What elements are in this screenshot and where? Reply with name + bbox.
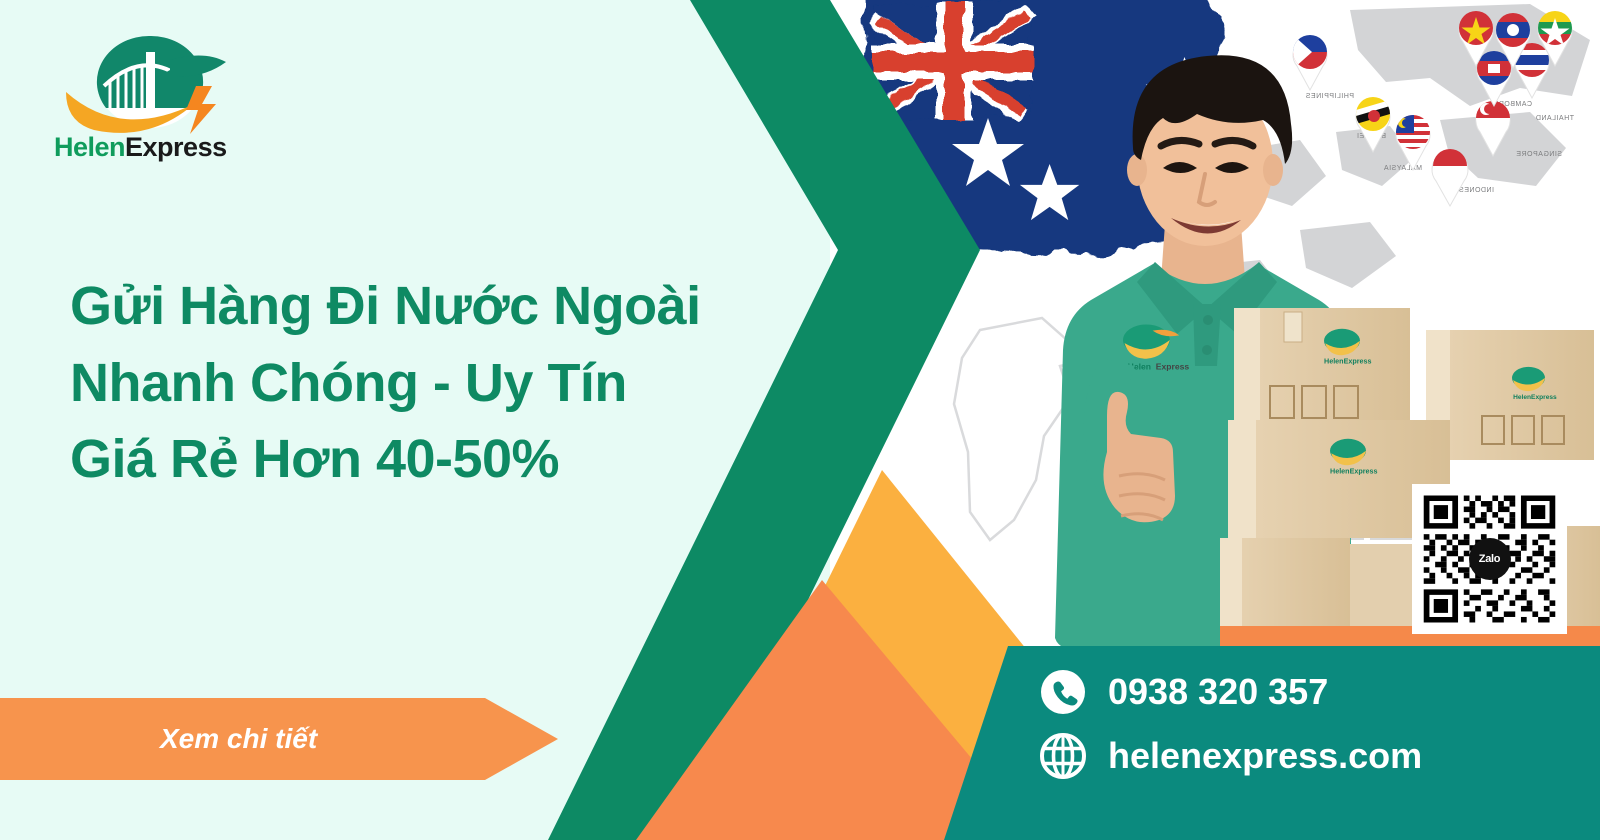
svg-text:HelenExpress: HelenExpress [1330,467,1378,476]
contact-info: 0938 320 357 helenexpress.com [1040,660,1560,810]
view-details-label: Xem chi tiết [160,723,317,755]
website-url: helenexpress.com [1108,735,1422,777]
phone-icon [1040,669,1086,715]
zalo-badge: Zalo [1469,538,1511,580]
headline-line-3: Giá Rẻ Hơn 40-50% [70,421,830,498]
svg-text:MALAYSIA: MALAYSIA [1384,165,1423,172]
headline-line-2: Nhanh Chóng - Uy Tín [70,345,830,422]
globe-icon [1040,733,1086,779]
logo-wordmark: HelenExpress [54,132,244,163]
view-details-button[interactable]: Xem chi tiết [0,698,560,780]
logo-name-helen: Helen [54,132,125,162]
phone-number: 0938 320 357 [1108,671,1328,713]
svg-text:HelenExpress: HelenExpress [1513,394,1557,401]
zalo-qr-code[interactable]: Zalo [1412,484,1567,634]
promotional-banner: PHILIPPINES BRUNEI MALAYSIA INDONESIA SI… [0,0,1600,840]
logo-name-express: Express [125,132,227,162]
brand-logo[interactable]: HelenExpress [50,30,250,170]
contact-phone-row[interactable]: 0938 320 357 [1040,660,1560,724]
svg-text:SINGAPORE: SINGAPORE [1516,151,1562,158]
contact-website-row[interactable]: helenexpress.com [1040,724,1560,788]
svg-text:THAILAND: THAILAND [1535,115,1574,122]
svg-text:HelenExpress: HelenExpress [1324,357,1372,366]
helen-express-globe-plane-icon [50,30,250,140]
svg-text:Express: Express [1156,362,1190,372]
page-title: Gửi Hàng Đi Nước Ngoài Nhanh Chóng - Uy … [70,268,830,498]
headline-line-1: Gửi Hàng Đi Nước Ngoài [70,268,830,345]
